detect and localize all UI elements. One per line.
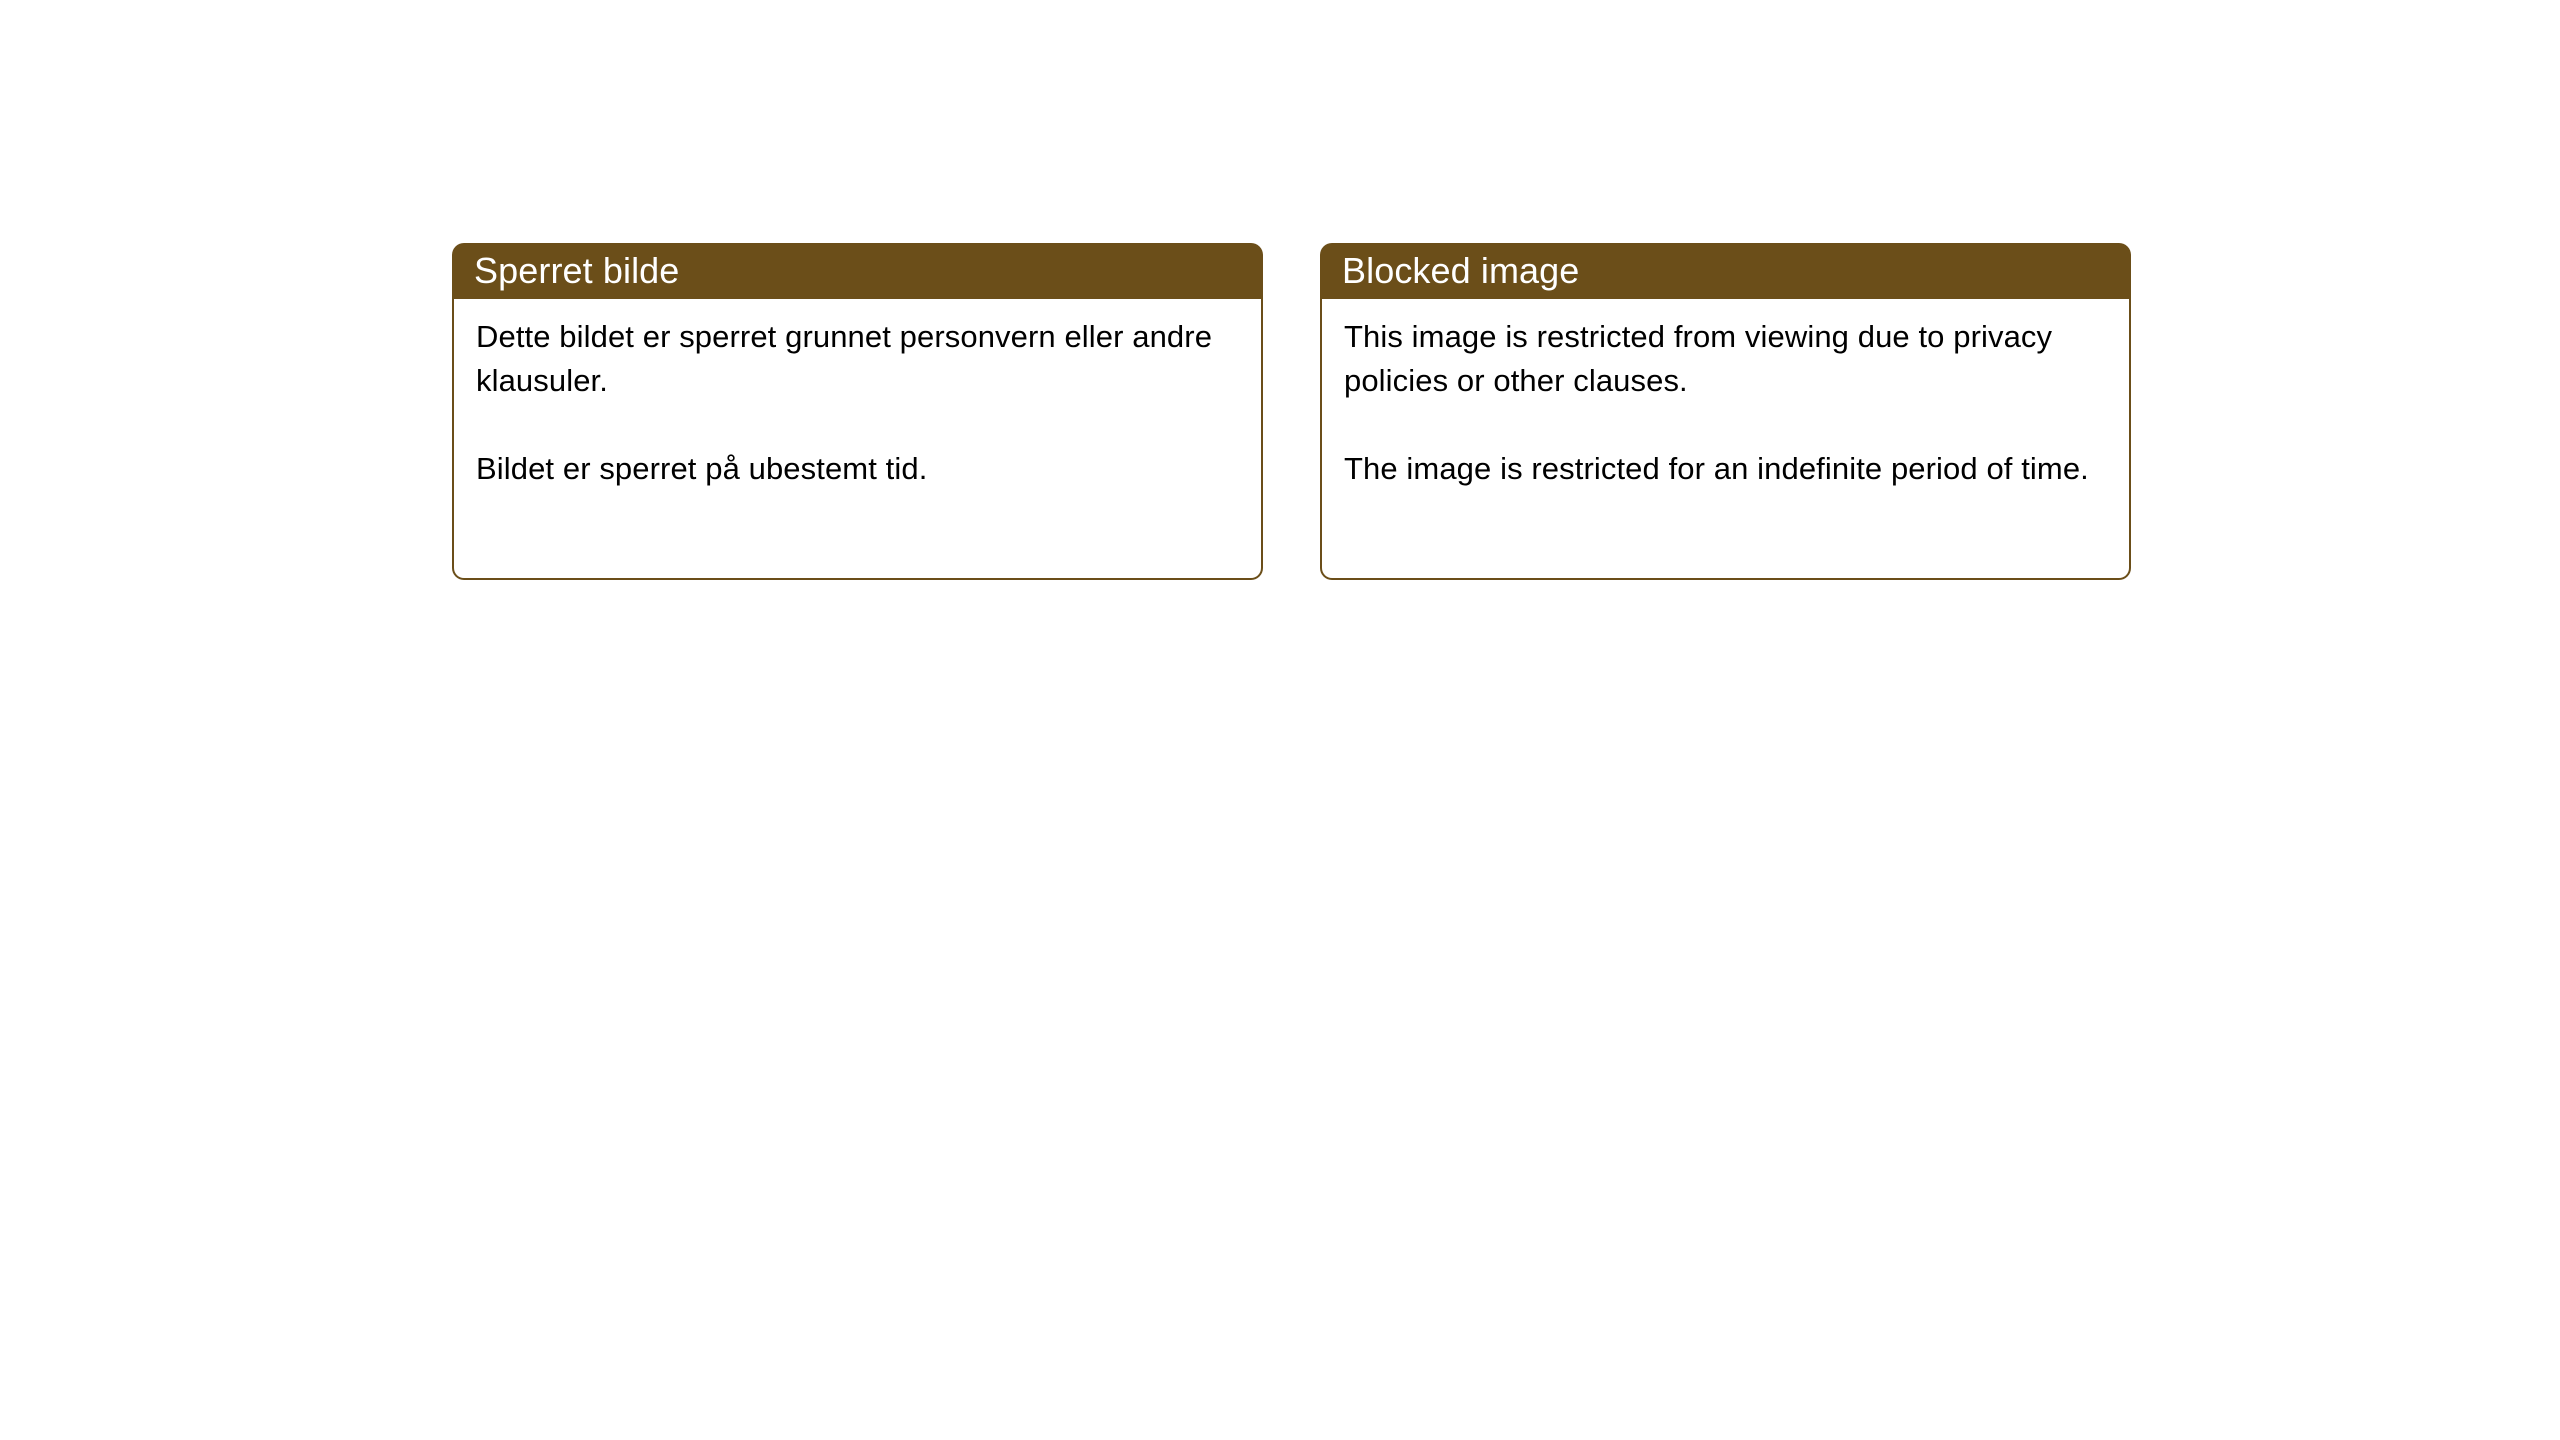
notice-paragraph-2-no: Bildet er sperret på ubestemt tid.	[476, 447, 1239, 491]
notice-title-en: Blocked image	[1342, 250, 1579, 292]
notice-paragraph-1-en: This image is restricted from viewing du…	[1344, 315, 2107, 403]
paragraph-spacer-en	[1344, 403, 2107, 447]
notice-title-no: Sperret bilde	[474, 250, 679, 292]
notice-header-en: Blocked image	[1320, 243, 2131, 299]
notice-body-no: Dette bildet er sperret grunnet personve…	[452, 299, 1263, 580]
paragraph-spacer-no	[476, 403, 1239, 447]
blocked-image-notice-no: Sperret bilde Dette bildet er sperret gr…	[452, 243, 1263, 580]
notice-paragraph-1-no: Dette bildet er sperret grunnet personve…	[476, 315, 1239, 403]
page-canvas: Sperret bilde Dette bildet er sperret gr…	[0, 0, 2560, 1440]
notice-header-no: Sperret bilde	[452, 243, 1263, 299]
blocked-image-notice-en: Blocked image This image is restricted f…	[1320, 243, 2131, 580]
notice-body-en: This image is restricted from viewing du…	[1320, 299, 2131, 580]
notice-paragraph-2-en: The image is restricted for an indefinit…	[1344, 447, 2107, 491]
